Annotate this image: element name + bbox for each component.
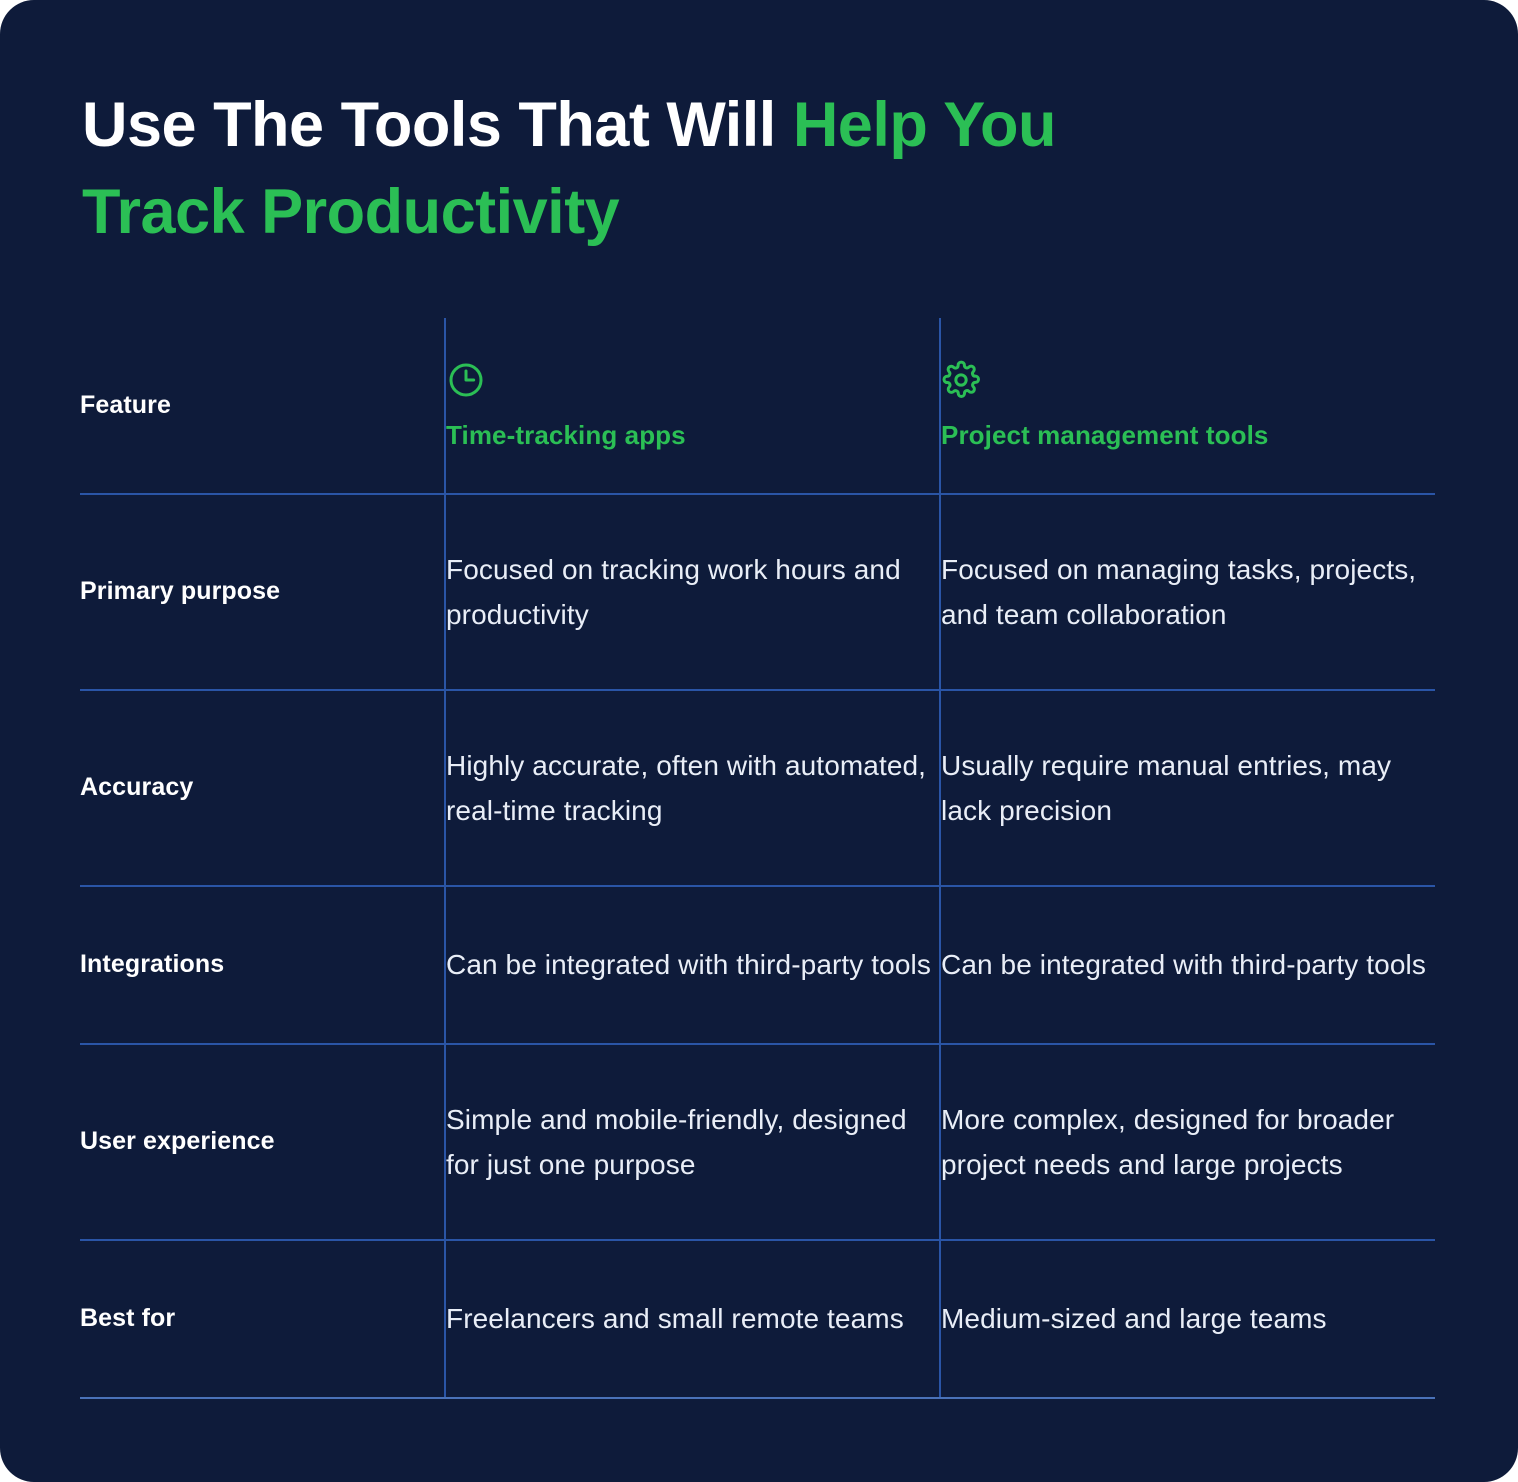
- title-accent-part-2: Track Productivity: [82, 177, 619, 247]
- table-row: Accuracy Highly accurate, often with aut…: [80, 690, 1435, 886]
- row-feature-label: User experience: [80, 1044, 445, 1240]
- row-time-tracking-value: Focused on tracking work hours and produ…: [445, 494, 940, 690]
- row-time-tracking-value: Can be integrated with third-party tools: [445, 886, 940, 1044]
- row-feature-label: Accuracy: [80, 690, 445, 886]
- row-time-tracking-value: Highly accurate, often with automated, r…: [445, 690, 940, 886]
- row-project-management-value: Focused on managing tasks, projects, and…: [940, 494, 1435, 690]
- table-row: Primary purpose Focused on tracking work…: [80, 494, 1435, 690]
- header-feature: Feature: [80, 318, 445, 494]
- table-row: Best for Freelancers and small remote te…: [80, 1240, 1435, 1398]
- table-row: User experience Simple and mobile-friend…: [80, 1044, 1435, 1240]
- header-time-tracking-label: Time-tracking apps: [446, 420, 939, 451]
- row-time-tracking-value: Freelancers and small remote teams: [445, 1240, 940, 1398]
- header-time-tracking-apps: Time-tracking apps: [445, 318, 940, 494]
- table-row: Integrations Can be integrated with thir…: [80, 886, 1435, 1044]
- page-title: Use The Tools That Will Help You Track P…: [82, 82, 1372, 256]
- row-project-management-value: More complex, designed for broader proje…: [940, 1044, 1435, 1240]
- title-accent-part-1: Help You: [793, 90, 1056, 160]
- title-plain-part: Use The Tools That Will: [82, 90, 793, 160]
- row-feature-label: Integrations: [80, 886, 445, 1044]
- clock-icon: [446, 360, 939, 400]
- header-project-management-label: Project management tools: [941, 420, 1435, 451]
- row-feature-label: Primary purpose: [80, 494, 445, 690]
- comparison-card: Use The Tools That Will Help You Track P…: [0, 0, 1518, 1482]
- row-project-management-value: Can be integrated with third-party tools: [940, 886, 1435, 1044]
- row-project-management-value: Medium-sized and large teams: [940, 1240, 1435, 1398]
- row-project-management-value: Usually require manual entries, may lack…: [940, 690, 1435, 886]
- row-feature-label: Best for: [80, 1240, 445, 1398]
- comparison-table: Feature Time-tracking apps: [80, 318, 1435, 1399]
- row-time-tracking-value: Simple and mobile-friendly, designed for…: [445, 1044, 940, 1240]
- header-project-management-tools: Project management tools: [940, 318, 1435, 494]
- table-header-row: Feature Time-tracking apps: [80, 318, 1435, 494]
- gear-icon: [941, 360, 1435, 400]
